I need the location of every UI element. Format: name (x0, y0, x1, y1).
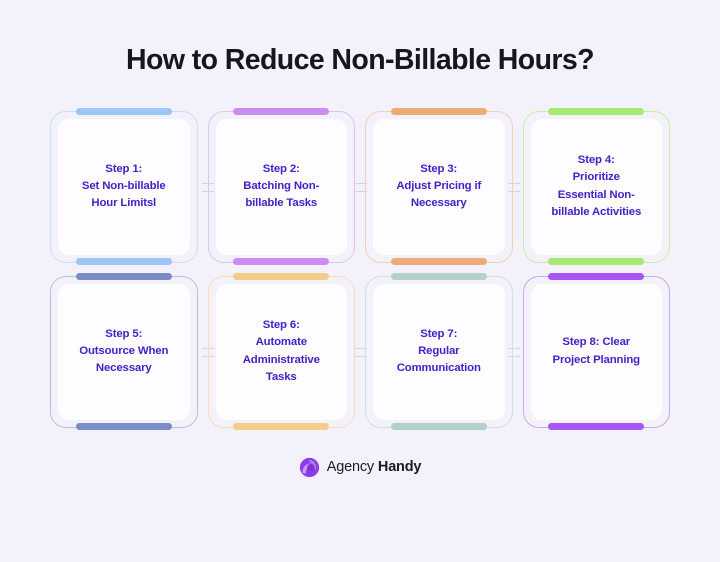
accent-bar-bottom (233, 258, 329, 265)
brand-footer: AgencyHandy (299, 457, 422, 478)
accent-bar-top (391, 108, 487, 115)
accent-bar-bottom (76, 258, 172, 265)
step-card-label: Step 4: Prioritize Essential Non- billab… (551, 152, 641, 221)
step-card-label: Step 5: Outsource When Necessary (79, 326, 168, 378)
accent-bar-top (548, 108, 644, 115)
step-card-body: Step 7: Regular Communication (373, 284, 505, 420)
step-card-body: Step 4: Prioritize Essential Non- billab… (531, 119, 663, 255)
accent-bar-top (76, 108, 172, 115)
step-card-6[interactable]: Step 6: Automate Administrative Tasks (208, 276, 356, 428)
step-card-label: Step 8: Clear Project Planning (553, 334, 640, 369)
infographic-canvas: How to Reduce Non-Billable Hours? Step 1… (0, 0, 720, 562)
accent-bar-bottom (76, 423, 172, 430)
step-card-label: Step 1: Set Non-billable Hour Limitsl (82, 161, 166, 213)
step-card-8[interactable]: Step 8: Clear Project Planning (523, 276, 671, 428)
step-card-body: Step 8: Clear Project Planning (531, 284, 663, 420)
step-card-body: Step 2: Batching Non- billable Tasks (216, 119, 348, 255)
step-card-label: Step 2: Batching Non- billable Tasks (243, 161, 319, 213)
step-card-body: Step 3: Adjust Pricing if Necessary (373, 119, 505, 255)
step-card-2[interactable]: Step 2: Batching Non- billable Tasks (208, 111, 356, 263)
brand-name-first: Agency (327, 459, 374, 475)
step-card-label: Step 3: Adjust Pricing if Necessary (396, 161, 481, 213)
step-card-label: Step 6: Automate Administrative Tasks (243, 317, 320, 386)
step-card-label: Step 7: Regular Communication (397, 326, 481, 378)
brand-wordmark: AgencyHandy (327, 459, 422, 475)
step-card-body: Step 5: Outsource When Necessary (58, 284, 190, 420)
accent-bar-top (391, 273, 487, 280)
brand-name-second: Handy (378, 459, 421, 475)
page-title: How to Reduce Non-Billable Hours? (126, 44, 594, 77)
step-card-7[interactable]: Step 7: Regular Communication (365, 276, 513, 428)
step-card-3[interactable]: Step 3: Adjust Pricing if Necessary (365, 111, 513, 263)
step-card-5[interactable]: Step 5: Outsource When Necessary (50, 276, 198, 428)
accent-bar-bottom (548, 423, 644, 430)
step-card-4[interactable]: Step 4: Prioritize Essential Non- billab… (523, 111, 671, 263)
accent-bar-bottom (233, 423, 329, 430)
steps-grid: Step 1: Set Non-billable Hour Limitsl St… (50, 111, 670, 428)
agency-handy-logo-icon (299, 457, 320, 478)
accent-bar-bottom (391, 258, 487, 265)
accent-bar-bottom (548, 258, 644, 265)
accent-bar-top (76, 273, 172, 280)
step-card-body: Step 6: Automate Administrative Tasks (216, 284, 348, 420)
accent-bar-top (233, 108, 329, 115)
accent-bar-top (233, 273, 329, 280)
step-card-1[interactable]: Step 1: Set Non-billable Hour Limitsl (50, 111, 198, 263)
accent-bar-top (548, 273, 644, 280)
step-card-body: Step 1: Set Non-billable Hour Limitsl (58, 119, 190, 255)
accent-bar-bottom (391, 423, 487, 430)
